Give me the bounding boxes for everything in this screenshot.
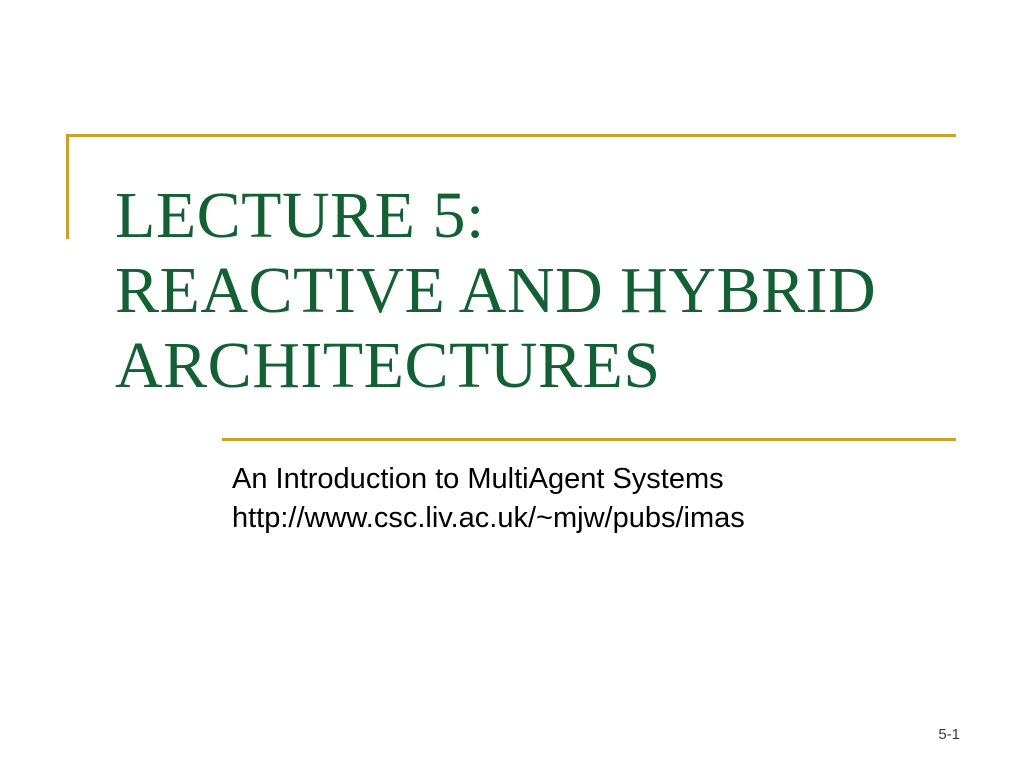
slide-canvas: LECTURE 5: REACTIVE AND HYBRID ARCHITECT… [0,0,1024,768]
title-line-3: ARCHITECTURES [115,328,975,403]
decorative-rule-left [66,134,69,239]
page-number: 5-1 [938,726,960,743]
subtitle-line-1: An Introduction to MultiAgent Systems [232,460,972,499]
title-line-2: REACTIVE AND HYBRID [115,253,975,328]
slide-title: LECTURE 5: REACTIVE AND HYBRID ARCHITECT… [115,178,975,403]
title-line-1: LECTURE 5: [115,178,975,253]
decorative-rule-middle [222,438,956,441]
slide-subtitle: An Introduction to MultiAgent Systems ht… [232,460,972,538]
subtitle-url[interactable]: http://www.csc.liv.ac.uk/~mjw/pubs/imas [232,499,972,538]
decorative-rule-top [66,134,956,137]
